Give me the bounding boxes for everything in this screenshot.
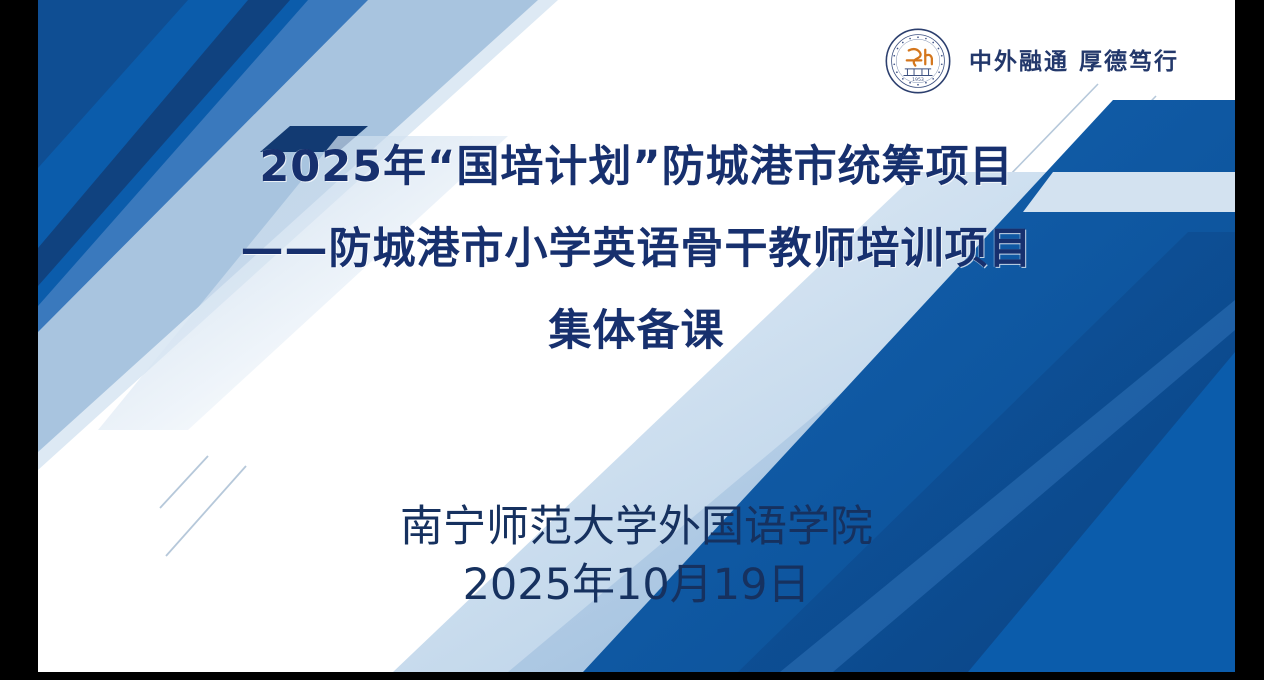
university-seal-icon: 1953 (885, 28, 951, 94)
footer-organization: 南宁师范大学外国语学院 (38, 498, 1235, 556)
title-line-2: ——防城港市小学英语骨干教师培训项目 (38, 208, 1235, 290)
title-line-3: 集体备课 (38, 290, 1235, 372)
slide-canvas: 1953 中外融通 厚德笃行 2025年“国培计划”防城港市统筹项目 ——防城港… (38, 0, 1235, 672)
video-letterbox-frame: 1953 中外融通 厚德笃行 2025年“国培计划”防城港市统筹项目 ——防城港… (0, 0, 1264, 680)
footer-date: 2025年10月19日 (38, 556, 1235, 614)
footer-block: 南宁师范大学外国语学院 2025年10月19日 (38, 498, 1235, 614)
brand-motto: 中外融通 厚德笃行 (969, 50, 1179, 73)
brand-lockup: 1953 中外融通 厚德笃行 (885, 28, 1179, 94)
seal-year: 1953 (912, 77, 924, 83)
title-line-1: 2025年“国培计划”防城港市统筹项目 (38, 126, 1235, 208)
title-block: 2025年“国培计划”防城港市统筹项目 ——防城港市小学英语骨干教师培训项目 集… (38, 126, 1235, 372)
